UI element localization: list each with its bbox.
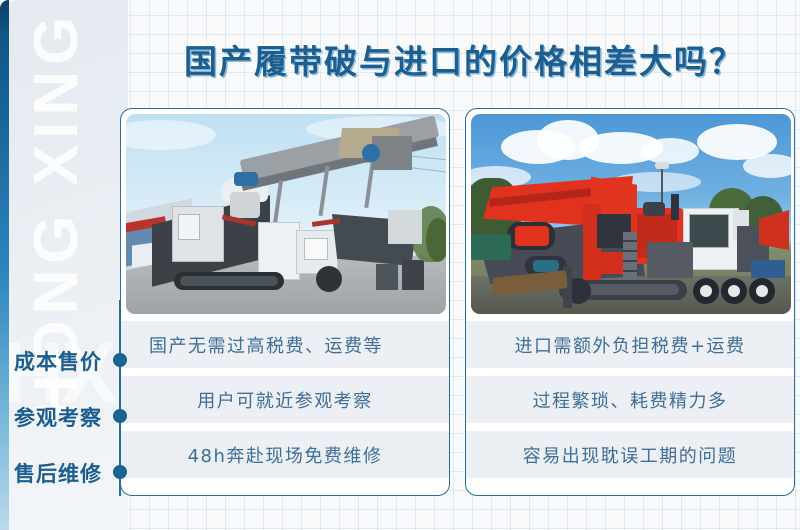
row-imported-2: 容易出现耽误工期的问题 bbox=[466, 431, 794, 478]
photo-imported-crusher bbox=[471, 114, 791, 314]
row-imported-0: 进口需额外负担税费+运费 bbox=[466, 321, 794, 368]
poster-canvas: HONG XING HX 成本售价 参观考察 售后维修 国产履带破与进口的价格相… bbox=[0, 0, 800, 530]
photo-domestic-crusher bbox=[126, 114, 446, 314]
connector-dot-service bbox=[113, 465, 127, 479]
page-title: 国产履带破与进口的价格相差大吗？ bbox=[128, 28, 800, 90]
sidebar-accent-edge bbox=[0, 0, 9, 530]
row-imported-1: 过程繁琐、耗费精力多 bbox=[466, 376, 794, 423]
row-domestic-2: 48h奔赴现场免费维修 bbox=[121, 431, 449, 478]
sidebar-label-cost: 成本售价 bbox=[6, 344, 118, 378]
sidebar-label-service: 售后维修 bbox=[6, 456, 118, 490]
connector-dot-cost bbox=[113, 353, 127, 367]
comparison-card-imported: 进口需额外负担税费+运费 过程繁琐、耗费精力多 容易出现耽误工期的问题 bbox=[465, 108, 795, 496]
comparison-card-domestic: 国产无需过高税费、运费等 用户可就近参观考察 48h奔赴现场免费维修 bbox=[120, 108, 450, 496]
connector-dot-visit bbox=[113, 409, 127, 423]
left-sidebar: HONG XING HX bbox=[0, 0, 128, 530]
row-domestic-0: 国产无需过高税费、运费等 bbox=[121, 321, 449, 368]
sidebar-label-visit: 参观考察 bbox=[6, 400, 118, 434]
rows-domestic: 国产无需过高税费、运费等 用户可就近参观考察 48h奔赴现场免费维修 bbox=[121, 321, 449, 486]
row-domestic-1: 用户可就近参观考察 bbox=[121, 376, 449, 423]
rows-imported: 进口需额外负担税费+运费 过程繁琐、耗费精力多 容易出现耽误工期的问题 bbox=[466, 321, 794, 486]
